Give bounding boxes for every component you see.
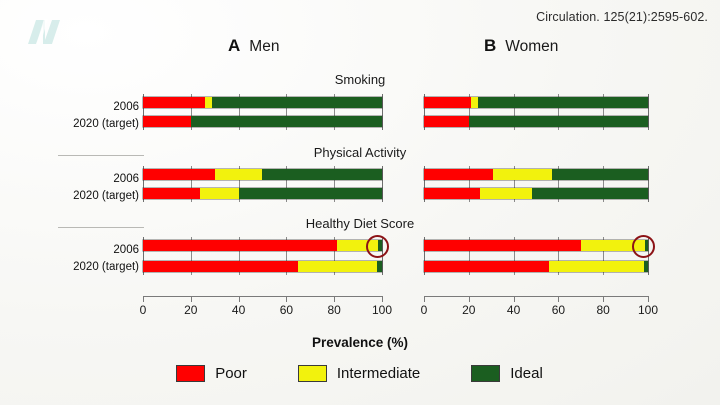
annotation-circle-men-ideal [366,235,389,258]
stacked-bar [143,240,382,251]
tick-label-0: 0 [140,303,147,317]
panel-name-women: Women [505,38,558,56]
legend-swatch-poor [177,366,204,381]
bar-segment-poor [424,261,549,272]
panel-name-men: Men [249,38,279,56]
bar-segment-intermediate [200,188,238,199]
bar-segment-poor [424,240,581,251]
group-separator-physical-activity [58,155,144,156]
tick-label-60: 60 [552,303,565,317]
annotation-circle-women-ideal [632,235,655,258]
bar-segment-poor [143,240,337,251]
citation-text: Circulation. 125(21):2595-602. [536,10,708,24]
tick-label-100: 100 [638,303,658,317]
tick-0 [424,296,425,302]
tick-label-80: 80 [597,303,610,317]
gridline-100 [382,94,383,130]
plot-men-smoking [143,94,382,130]
bar-segment-poor [424,169,493,180]
bar-segment-intermediate [215,169,263,180]
bar-segment-poor [143,97,205,108]
panel-header-women: B Women [484,36,558,56]
panel-letter-a: A [228,36,240,56]
bar-segment-ideal [478,97,648,108]
bar-segment-poor [143,261,298,272]
legend-swatch-ideal [472,366,499,381]
bar-segment-ideal [262,169,382,180]
bar-segment-intermediate [549,261,643,272]
legend-label-ideal: Ideal [510,365,543,382]
gridline-100 [648,94,649,130]
stacked-bar [143,116,382,127]
row-labels-physical-activity: 2006 2020 (target) [20,171,139,205]
tick-100 [382,296,383,302]
bar-segment-poor [424,188,480,199]
figure-canvas: Circulation. 125(21):2595-602. A Men B W… [0,0,720,405]
x-axis-title: Prevalence (%) [0,335,720,350]
bars [424,237,648,275]
bar-segment-ideal [644,261,648,272]
plot-men-healthy-diet-score [143,237,382,275]
bars [143,166,382,202]
tick-label-40: 40 [232,303,245,317]
bar-segment-poor [424,116,469,127]
stacked-bar [143,169,382,180]
group-separator-healthy-diet-score [58,227,144,228]
bar-segment-ideal [239,188,382,199]
bar-segment-ideal [377,261,382,272]
row-label-2020-target: 2020 (target) [20,116,139,133]
bar-segment-intermediate [205,97,212,108]
stacked-bar [143,261,382,272]
bar-segment-poor [143,188,200,199]
bar-segment-intermediate [471,97,478,108]
section-title-smoking: Smoking [0,72,720,87]
tick-80 [334,296,335,302]
bar-segment-ideal [532,188,648,199]
bar-segment-poor [143,116,191,127]
stacked-bar [424,240,648,251]
bar-segment-ideal [469,116,648,127]
plot-women-healthy-diet-score [424,237,648,275]
gridline-100 [382,166,383,202]
tick-20 [469,296,470,302]
tick-40 [514,296,515,302]
bar-segment-ideal [212,97,382,108]
tick-60 [558,296,559,302]
stacked-bar [424,116,648,127]
legend-item-ideal: Ideal [472,365,543,382]
bars [143,237,382,275]
legend-swatch-intermediate [299,366,326,381]
tick-label-80: 80 [328,303,341,317]
row-label-2020-target: 2020 (target) [20,188,139,205]
plot-men-physical-activity [143,166,382,202]
section-title-physical-activity: Physical Activity [0,145,720,160]
tick-label-40: 40 [507,303,520,317]
n-logo-watermark [14,10,76,52]
tick-0 [143,296,144,302]
bar-segment-ideal [191,116,382,127]
bar-segment-intermediate [480,188,532,199]
bar-segment-poor [143,169,215,180]
plot-women-smoking [424,94,648,130]
tick-label-60: 60 [280,303,293,317]
x-axis-ticks-women [424,296,648,302]
legend: Poor Intermediate Ideal [0,365,720,382]
row-label-2006: 2006 [20,99,139,116]
stacked-bar [424,169,648,180]
bar-segment-poor [424,97,471,108]
bars [143,94,382,130]
tick-label-20: 20 [462,303,475,317]
section-title-healthy-diet-score: Healthy Diet Score [0,216,720,231]
stacked-bar [143,188,382,199]
x-axis-labels-women: 020406080100 [424,303,648,319]
panel-header-men: A Men [228,36,279,56]
bars [424,94,648,130]
row-label-2020-target: 2020 (target) [20,259,139,276]
x-axis-ticks-men [143,296,382,302]
legend-item-intermediate: Intermediate [299,365,420,382]
stacked-bar [143,97,382,108]
legend-label-intermediate: Intermediate [337,365,420,382]
legend-label-poor: Poor [215,365,247,382]
bar-segment-intermediate [493,169,551,180]
bars [424,166,648,202]
tick-80 [603,296,604,302]
legend-item-poor: Poor [177,365,247,382]
tick-label-20: 20 [184,303,197,317]
tick-20 [191,296,192,302]
x-axis-labels-men: 020406080100 [143,303,382,319]
tick-60 [286,296,287,302]
stacked-bar [424,261,648,272]
stacked-bar [424,188,648,199]
row-labels-healthy-diet-score: 2006 2020 (target) [20,242,139,276]
tick-100 [648,296,649,302]
row-labels-smoking: 2006 2020 (target) [20,99,139,133]
bar-segment-intermediate [298,261,377,272]
bar-segment-ideal [552,169,648,180]
plot-women-physical-activity [424,166,648,202]
tick-label-100: 100 [372,303,392,317]
tick-label-0: 0 [421,303,428,317]
tick-40 [239,296,240,302]
stacked-bar [424,97,648,108]
row-label-2006: 2006 [20,242,139,259]
gridline-100 [648,166,649,202]
panel-letter-b: B [484,36,496,56]
row-label-2006: 2006 [20,171,139,188]
